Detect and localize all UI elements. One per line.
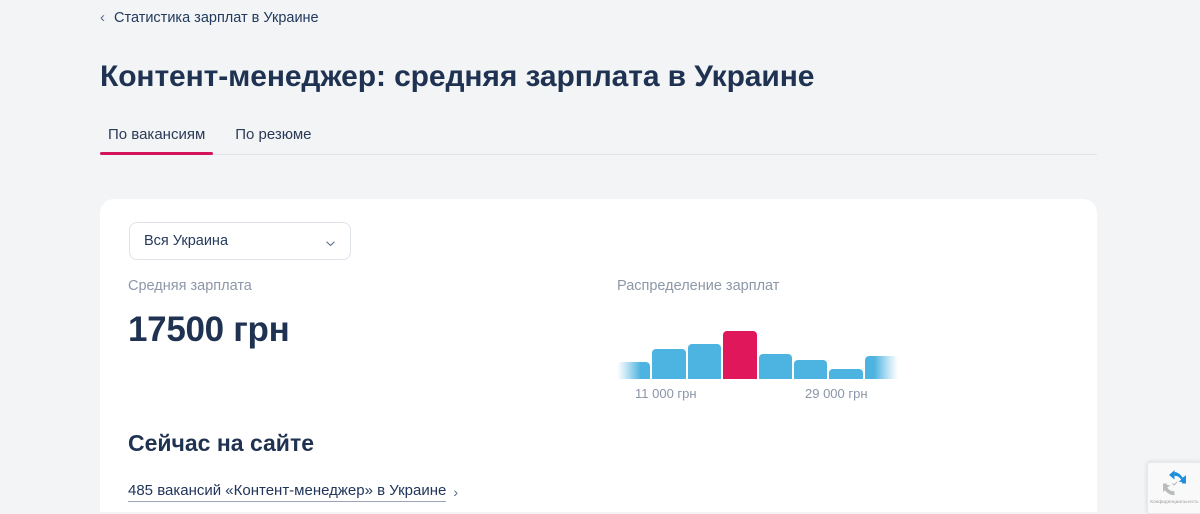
salary-distribution-chart: Распределение зарплат 11 000 грн 29 000 … <box>617 278 907 404</box>
chart-axis: 11 000 грн 29 000 грн <box>617 386 898 404</box>
tab-po-vakansiyam[interactable]: По вакансиям <box>100 126 213 155</box>
breadcrumb-label[interactable]: Статистика зарплат в Украине <box>114 10 319 26</box>
axis-label-min: 11 000 грн <box>635 386 697 401</box>
chevron-left-icon: ‹ <box>100 10 105 25</box>
chevron-right-icon: › <box>453 484 458 500</box>
chart-bar <box>688 344 721 379</box>
recaptcha-icon <box>1160 469 1189 498</box>
stats-card: Вся Украина Средняя зарплата 17500 грн Р… <box>100 199 1097 512</box>
breadcrumb[interactable]: ‹ Статистика зарплат в Украине <box>100 10 319 26</box>
chart-bar <box>865 356 898 379</box>
axis-label-max: 29 000 грн <box>805 386 868 401</box>
page-title: Контент-менеджер: средняя зарплата в Укр… <box>100 57 814 97</box>
chart-bar <box>617 362 650 379</box>
average-salary-block: Средняя зарплата 17500 грн <box>128 278 289 349</box>
region-select-value: Вся Украина <box>144 233 228 249</box>
region-select[interactable]: Вся Украина <box>129 222 351 260</box>
recaptcha-privacy-label[interactable]: Конфиденциальность <box>1148 499 1200 505</box>
page-root: ‹ Статистика зарплат в Украине Контент-м… <box>0 0 1200 512</box>
vacancies-link[interactable]: 485 вакансий «Контент-менеджер» в Украин… <box>128 482 458 502</box>
chart-bar <box>794 360 827 379</box>
chevron-down-icon <box>325 236 336 247</box>
chart-bar <box>759 354 792 379</box>
tab-bar: По вакансиям По резюме <box>100 126 1097 155</box>
vacancies-link-label: 485 вакансий «Контент-менеджер» в Украин… <box>128 482 446 502</box>
chart-bars <box>617 321 898 379</box>
average-salary-value: 17500 грн <box>128 311 289 349</box>
chart-bar <box>829 369 862 379</box>
chart-title: Распределение зарплат <box>617 278 907 294</box>
now-on-site-heading: Сейчас на сайте <box>128 429 314 457</box>
chart-bar <box>723 331 756 379</box>
recaptcha-badge[interactable]: Конфиденциальность <box>1147 462 1200 514</box>
tab-po-rezume[interactable]: По резюме <box>227 126 319 155</box>
average-salary-label: Средняя зарплата <box>128 278 289 294</box>
chart-bar <box>652 349 685 379</box>
